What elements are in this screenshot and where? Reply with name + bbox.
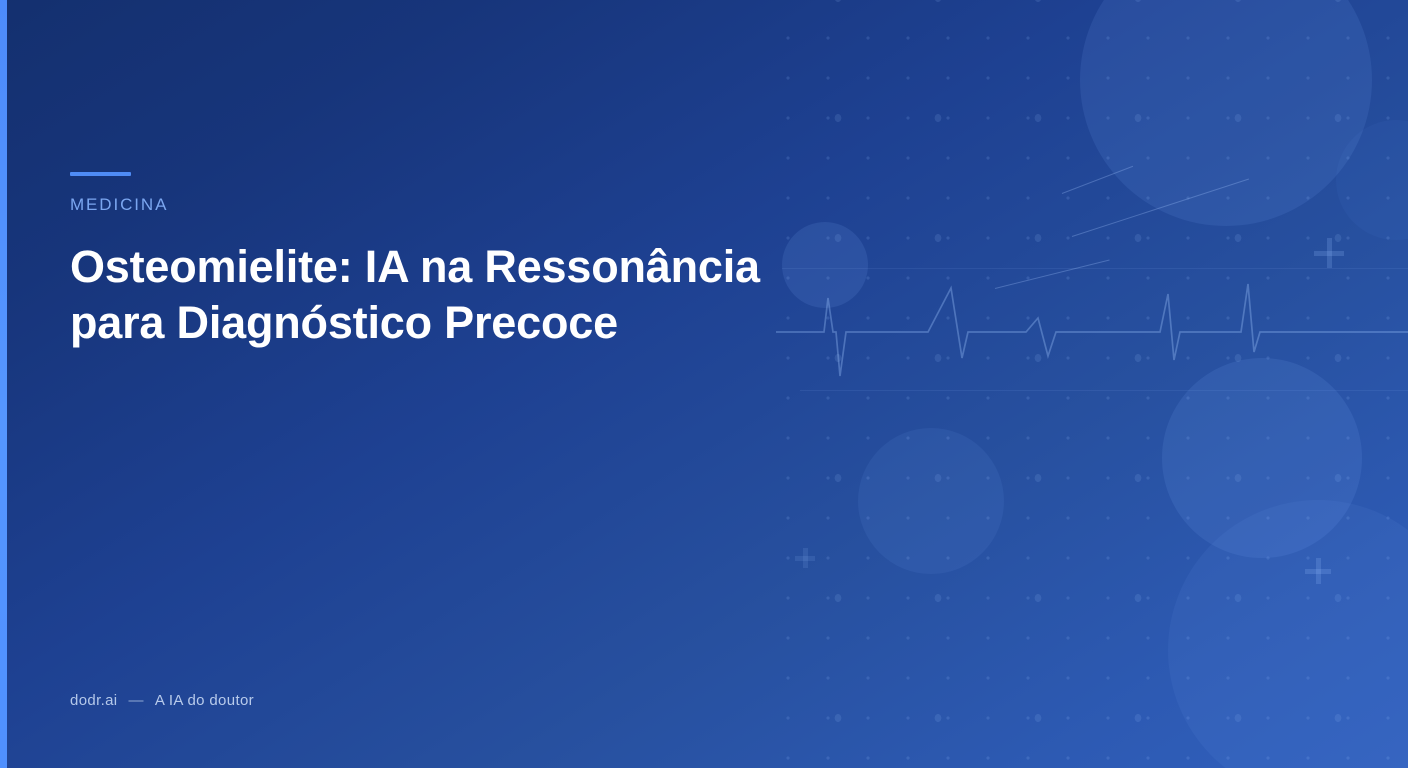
page-title-line-2: para Diagnóstico Precoce <box>70 295 760 351</box>
brand-name: dodr.ai <box>70 692 118 709</box>
dot-grid-pattern-icon <box>760 0 1408 768</box>
soft-circle-blob <box>782 222 868 308</box>
soft-circle-blob <box>1080 0 1372 226</box>
left-accent-bar <box>0 0 7 768</box>
title-slide: MEDICINA Osteomielite: IA na Ressonância… <box>0 0 1408 768</box>
medical-plus-mark-icon <box>1305 558 1331 584</box>
medical-plus-mark-icon <box>795 548 815 568</box>
category-kicker: MEDICINA <box>70 196 760 213</box>
medical-plus-mark-icon <box>1314 238 1344 268</box>
soft-circle-blob <box>1162 358 1362 558</box>
diagonal-filament-line <box>995 259 1110 289</box>
diagonal-filament-line <box>1062 166 1133 194</box>
dot-grid-large-pattern-icon <box>760 0 1408 768</box>
ecg-heartbeat-line-icon <box>776 282 1408 392</box>
footer-separator: — <box>129 692 144 709</box>
horizontal-rail-line <box>782 268 1408 269</box>
kicker-accent-rule <box>70 172 131 176</box>
horizontal-rail-line <box>800 390 1408 391</box>
brand-tagline: A IA do doutor <box>155 692 254 709</box>
diagonal-filament-line <box>1072 179 1249 237</box>
slide-content: MEDICINA Osteomielite: IA na Ressonância… <box>70 0 760 381</box>
soft-circle-blob <box>1336 120 1408 240</box>
page-title: Osteomielite: IA na Ressonância para Dia… <box>70 239 760 351</box>
footer: dodr.ai — A IA do doutor <box>70 692 254 709</box>
soft-circle-blob <box>1168 500 1408 768</box>
soft-circle-blob <box>858 428 1004 574</box>
page-title-line-1: Osteomielite: IA na Ressonância <box>70 239 760 295</box>
